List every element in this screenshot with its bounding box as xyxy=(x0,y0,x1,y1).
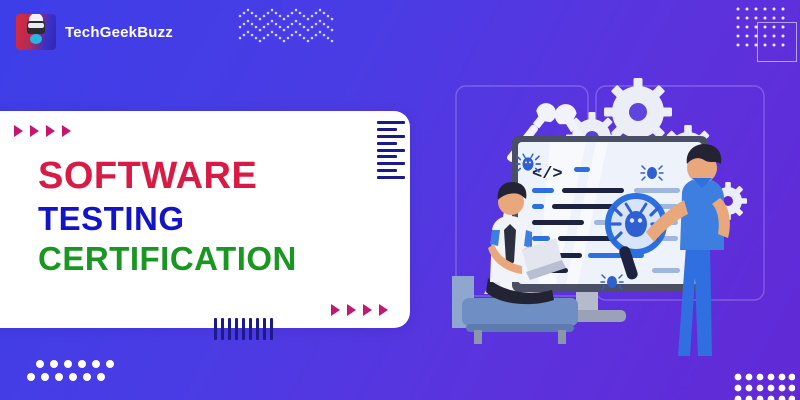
bottom-bars-decoration xyxy=(214,318,273,340)
chevron-right-icon xyxy=(347,304,356,316)
banner-root: </> xyxy=(0,0,800,400)
brand-logo[interactable]: TechGeekBuzz xyxy=(16,14,173,50)
edge-stripes-decoration xyxy=(377,121,405,179)
page-title: SOFTWARE TESTING CERTIFICATION xyxy=(38,157,368,276)
chevron-right-icon xyxy=(46,125,55,137)
dot-grid-bottom-right-icon xyxy=(733,372,795,400)
zigzag-wave-pattern-icon xyxy=(238,6,334,48)
chevrons-top-left xyxy=(14,125,71,137)
chevron-right-icon xyxy=(363,304,372,316)
chevrons-bottom-right xyxy=(331,304,388,316)
chevron-right-icon xyxy=(62,125,71,137)
brand-name: TechGeekBuzz xyxy=(65,24,173,41)
headline-line-1: SOFTWARE xyxy=(38,157,368,196)
techgeekbuzz-logo-icon xyxy=(16,14,56,50)
code-brackets-icon: </> xyxy=(532,165,563,184)
chevron-right-icon xyxy=(379,304,388,316)
dot-row-bottom-left-icon xyxy=(26,358,118,388)
headline-card: SOFTWARE TESTING CERTIFICATION xyxy=(0,111,410,328)
headline-line-2: TESTING xyxy=(38,202,368,236)
outline-square-top-right-icon xyxy=(757,22,797,62)
chevron-right-icon xyxy=(14,125,23,137)
headline-line-3: CERTIFICATION xyxy=(38,242,368,276)
chevron-right-icon xyxy=(30,125,39,137)
chevron-right-icon xyxy=(331,304,340,316)
software-testing-illustration: </> xyxy=(440,60,800,360)
